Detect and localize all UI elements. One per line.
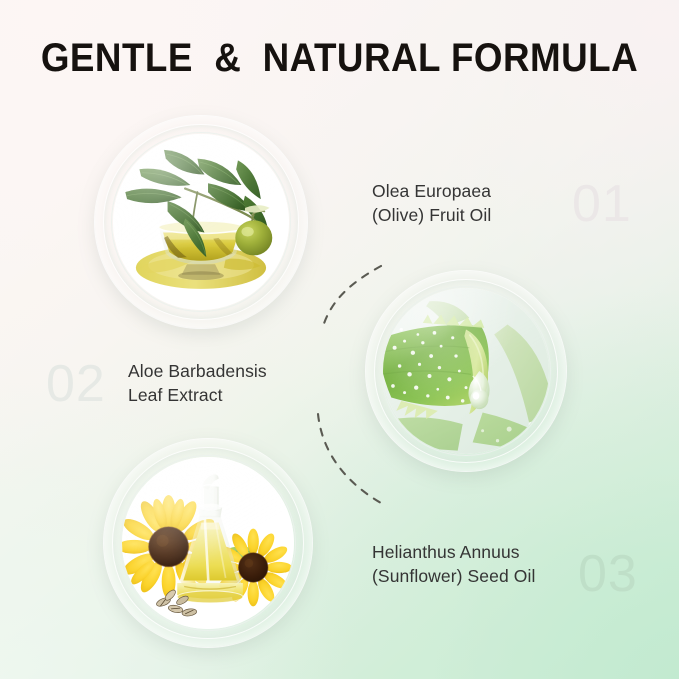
ingredient-number-01: 01: [572, 178, 632, 230]
ingredient-label-sunflower: Helianthus Annuus (Sunflower) Seed Oil: [372, 541, 535, 588]
page-title: GENTLE & NATURAL FORMULA: [27, 36, 652, 81]
ingredient-label-aloe: Aloe Barbadensis Leaf Extract: [128, 360, 267, 407]
ingredient-infographic: GENTLE & NATURAL FORMULA: [0, 0, 679, 679]
olive-photo: [113, 134, 289, 310]
ingredient-number-02: 02: [46, 358, 106, 410]
ingredient-circle-olive[interactable]: [95, 116, 307, 328]
ingredient-circle-aloe[interactable]: [366, 271, 566, 471]
aloe-photo: [383, 288, 549, 454]
ingredient-circle-sunflower[interactable]: [104, 439, 312, 647]
ingredient-number-03: 03: [578, 548, 638, 600]
ingredient-label-olive: Olea Europaea (Olive) Fruit Oil: [372, 180, 491, 227]
sunflower-photo: [122, 457, 295, 630]
